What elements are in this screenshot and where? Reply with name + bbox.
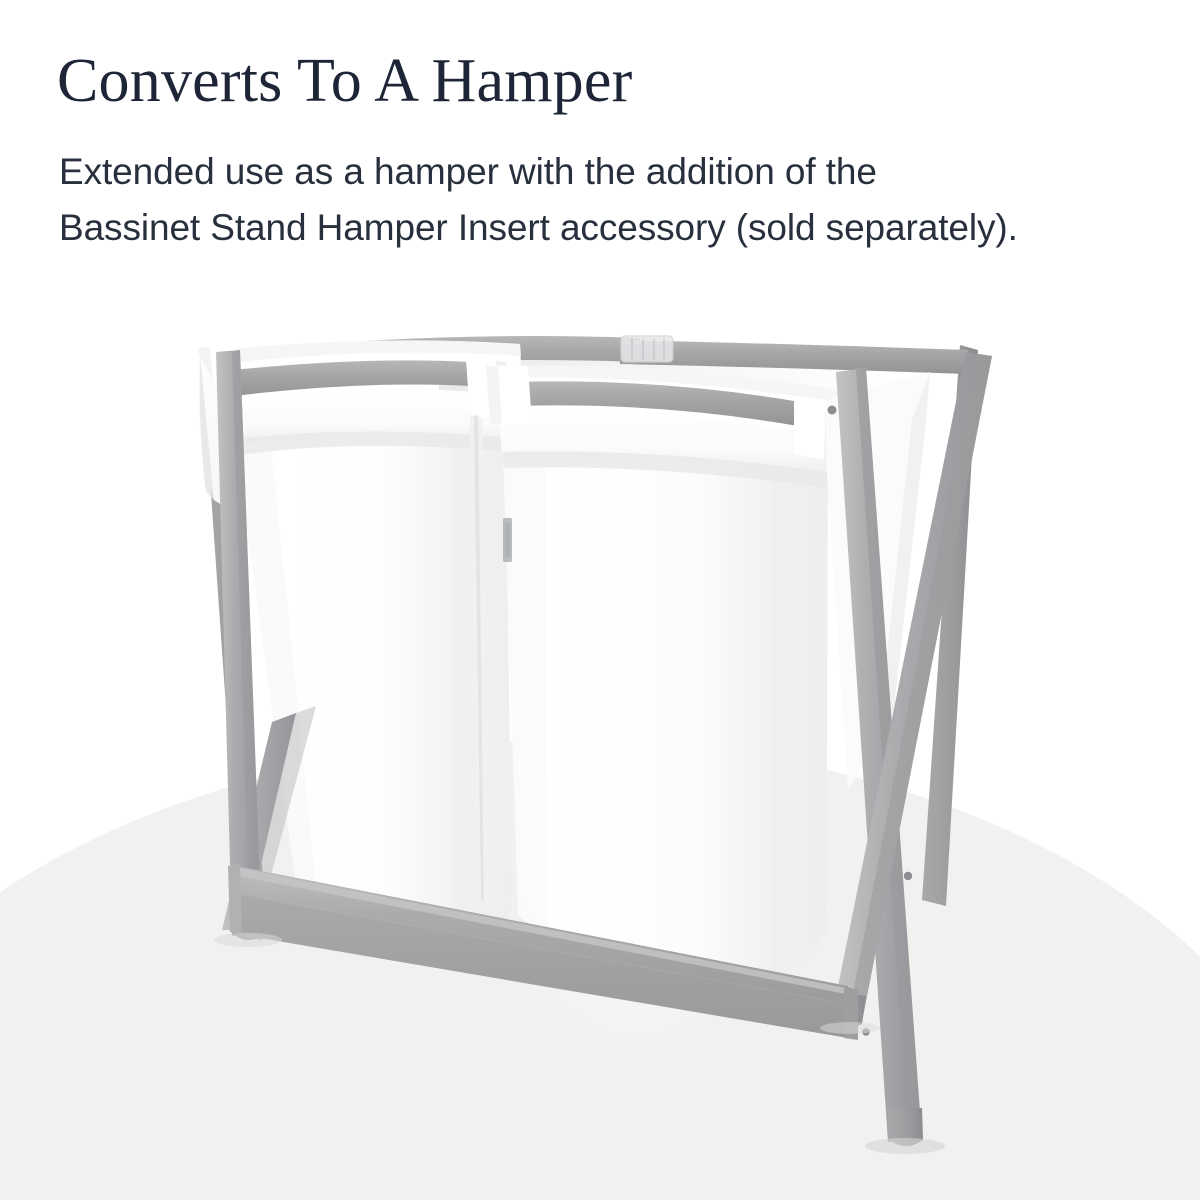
subtitle-line-2: Bassinet Stand Hamper Insert accessory (… <box>59 200 1147 256</box>
page-title: Converts To A Hamper <box>57 44 1147 118</box>
subtitle-line-1: Extended use as a hamper with the additi… <box>59 144 1147 200</box>
pivot-rivet-icon <box>904 872 912 880</box>
pivot-rivet-icon <box>828 406 837 415</box>
page-subtitle: Extended use as a hamper with the additi… <box>59 144 1147 256</box>
copy-block: Converts To A Hamper Extended use as a h… <box>57 44 1147 256</box>
hamper-bag-right <box>486 366 840 983</box>
plastic-clip-icon <box>621 336 673 362</box>
product-feature-panel: Converts To A Hamper Extended use as a h… <box>0 0 1200 1200</box>
